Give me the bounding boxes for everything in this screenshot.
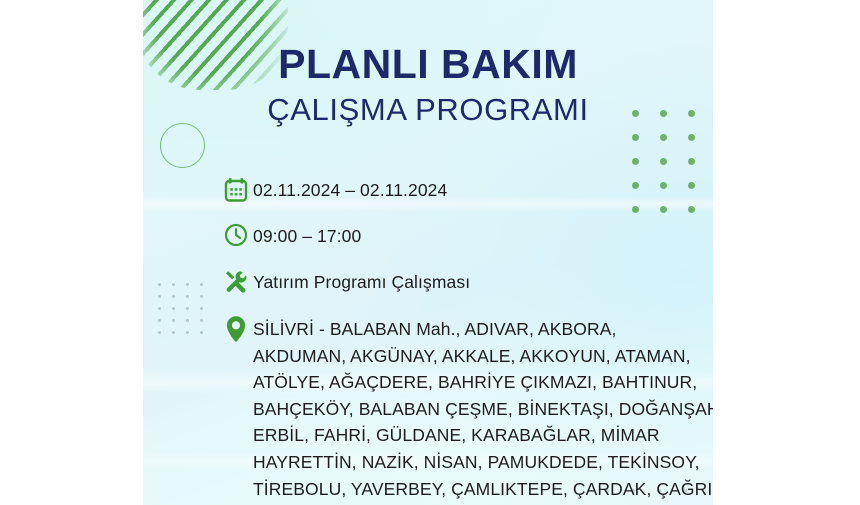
location-line: AKDUMAN, AKGÜNAY, AKKALE, AKKOYUN, ATAMA… [253, 343, 713, 370]
info-row-work-type: Yatırım Programı Çalışması [219, 269, 699, 299]
outline-circle-decoration [160, 123, 205, 168]
dot [660, 158, 667, 165]
dot [200, 307, 203, 310]
dot [158, 283, 161, 286]
poster-heading: PLANLI BAKIM ÇALIŞMA PROGRAMI [143, 44, 713, 125]
dot [688, 158, 695, 165]
dot [186, 331, 189, 334]
clock-icon [219, 223, 253, 253]
poster-canvas: PLANLI BAKIM ÇALIŞMA PROGRAMI [143, 0, 713, 505]
location-line: ATÖLYE, AĞAÇDERE, BAHRİYE ÇIKMAZI, BAHTI… [253, 369, 713, 396]
dot [172, 295, 175, 298]
dot [632, 134, 639, 141]
work-type-value: Yatırım Programı Çalışması [253, 269, 470, 295]
dot [172, 307, 175, 310]
dot [200, 295, 203, 298]
info-row-date: 02.11.2024 – 02.11.2024 [219, 177, 699, 207]
location-pin-icon [219, 315, 253, 345]
info-row-time: 09:00 – 17:00 [219, 223, 699, 253]
dot [158, 295, 161, 298]
dot [660, 134, 667, 141]
location-line: TİREBOLU, YAVERBEY, ÇAMLIKTEPE, ÇARDAK, … [253, 476, 713, 503]
dot [632, 158, 639, 165]
screenshot-root: PLANLI BAKIM ÇALIŞMA PROGRAMI [0, 0, 860, 505]
tools-icon [219, 269, 253, 299]
dot [186, 307, 189, 310]
info-row-location: SİLİVRİ - BALABAN Mah., ADIVAR, AKBORA,A… [219, 315, 699, 505]
dot [200, 319, 203, 322]
page-title: PLANLI BAKIM [143, 44, 713, 85]
dot [158, 307, 161, 310]
page-subtitle: ÇALIŞMA PROGRAMI [143, 94, 713, 125]
dot-grid-left-decoration [158, 283, 214, 343]
dot [186, 319, 189, 322]
dot [172, 331, 175, 334]
time-range-value: 09:00 – 17:00 [253, 223, 361, 249]
dot [158, 319, 161, 322]
location-line: ERBİL, FAHRİ, GÜLDANE, KARABAĞLAR, MİMAR [253, 422, 713, 449]
dot [172, 283, 175, 286]
info-list: 02.11.2024 – 02.11.2024 09:00 – 17:00 [219, 177, 699, 505]
dot [186, 295, 189, 298]
location-value: SİLİVRİ - BALABAN Mah., ADIVAR, AKBORA,A… [253, 315, 713, 505]
location-line: BAHÇEKÖY, BALABAN ÇEŞME, BİNEKTAŞI, DOĞA… [253, 396, 713, 423]
location-line: SİLİVRİ - BALABAN Mah., ADIVAR, AKBORA, [253, 316, 713, 343]
dot [688, 134, 695, 141]
dot [172, 319, 175, 322]
dot [186, 283, 189, 286]
dot [200, 331, 203, 334]
location-line: HAYRETTİN, NAZİK, NİSAN, PAMUKDEDE, TEKİ… [253, 449, 713, 476]
dot [200, 283, 203, 286]
calendar-icon [219, 177, 253, 207]
dot [158, 331, 161, 334]
date-range-value: 02.11.2024 – 02.11.2024 [253, 177, 447, 203]
